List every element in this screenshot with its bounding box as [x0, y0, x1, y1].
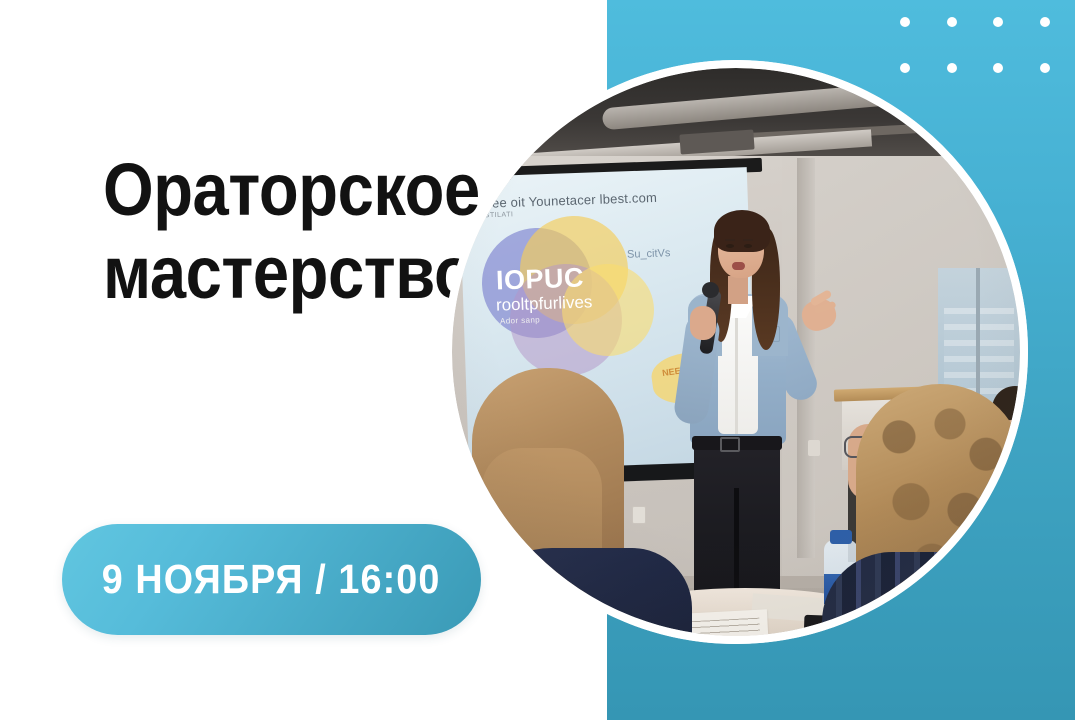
event-photo: ienee oit Younetacer lbest.com ARSTILATI…: [452, 68, 1020, 636]
title-line-2: мастерство: [103, 231, 473, 314]
decorative-dot: [947, 17, 957, 27]
date-time-label: 9 НОЯБРЯ / 16:00: [102, 556, 441, 603]
date-time-badge[interactable]: 9 НОЯБРЯ / 16:00: [62, 524, 481, 635]
decorative-dot: [1040, 17, 1050, 27]
decorative-dot: [1040, 63, 1050, 73]
decorative-dot: [900, 17, 910, 27]
title-line-1: Ораторское: [103, 148, 473, 231]
decorative-dot: [993, 17, 1003, 27]
photo-vignette: [452, 68, 1020, 636]
poster-canvas: Ораторское мастерство 9 НОЯБРЯ / 16:00 i…: [0, 0, 1075, 720]
